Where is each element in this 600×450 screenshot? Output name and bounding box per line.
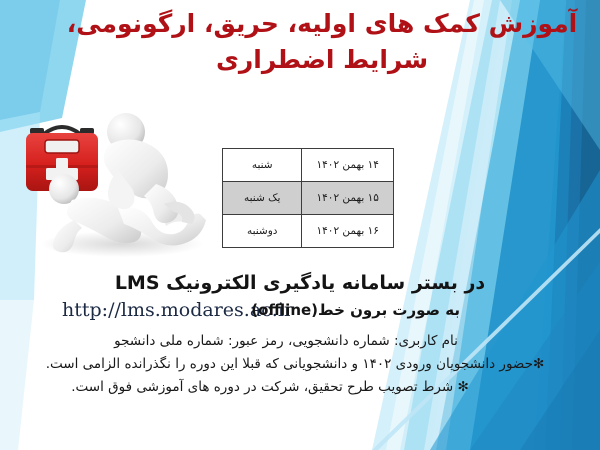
- table-row: ۱۶ بهمن ۱۴۰۲ دوشنبه: [223, 215, 394, 248]
- first-aid-cpr-illustration: [14, 96, 214, 261]
- table-cell-day: یک شنبه: [223, 182, 302, 215]
- table-row: ۱۴ بهمن ۱۴۰۲ شنبه: [223, 149, 394, 182]
- lms-platform-line: در بستر سامانه یادگیری الکترونیک LMS: [0, 272, 600, 296]
- schedule-table: ۱۴ بهمن ۱۴۰۲ شنبه ۱۵ بهمن ۱۴۰۲ یک شنبه ۱…: [222, 148, 394, 248]
- table-cell-date: ۱۶ بهمن ۱۴۰۲: [302, 215, 394, 248]
- body-text-block: در بستر سامانه یادگیری الکترونیک LMS htt…: [0, 272, 600, 395]
- rescuer-figure: [104, 113, 195, 224]
- table-cell-date: ۱۴ بهمن ۱۴۰۲: [302, 149, 394, 182]
- title-line-1: آموزش کمک های اولیه، حریق، ارگونومی،: [62, 6, 582, 42]
- credentials-line: نام کاربری: شماره دانشجویی، رمز عبور: شم…: [0, 333, 600, 349]
- url-and-offline-row: http://lms.modares.ac.ir به صورت برون خط…: [0, 299, 600, 329]
- research-proposal-note: ✻ شرط تصویب طرح تحقیق، شرکت در دوره های …: [0, 379, 600, 395]
- schedule-table-body: ۱۴ بهمن ۱۴۰۲ شنبه ۱۵ بهمن ۱۴۰۲ یک شنبه ۱…: [223, 149, 394, 248]
- presentation-slide: آموزش کمک های اولیه، حریق، ارگونومی، شرا…: [0, 0, 600, 450]
- table-cell-date: ۱۵ بهمن ۱۴۰۲: [302, 182, 394, 215]
- table-cell-day: شنبه: [223, 149, 302, 182]
- offline-mode-label: به صورت برون خط(offline): [251, 301, 460, 319]
- title-line-2: شرایط اضطراری: [62, 42, 582, 78]
- table-row: ۱۵ بهمن ۱۴۰۲ یک شنبه: [223, 182, 394, 215]
- page-title: آموزش کمک های اولیه، حریق، ارگونومی، شرا…: [62, 6, 582, 77]
- attendance-note: ✻حضور دانشجویان ورودی ۱۴۰۲ و دانشجویانی …: [0, 356, 600, 372]
- table-cell-day: دوشنبه: [223, 215, 302, 248]
